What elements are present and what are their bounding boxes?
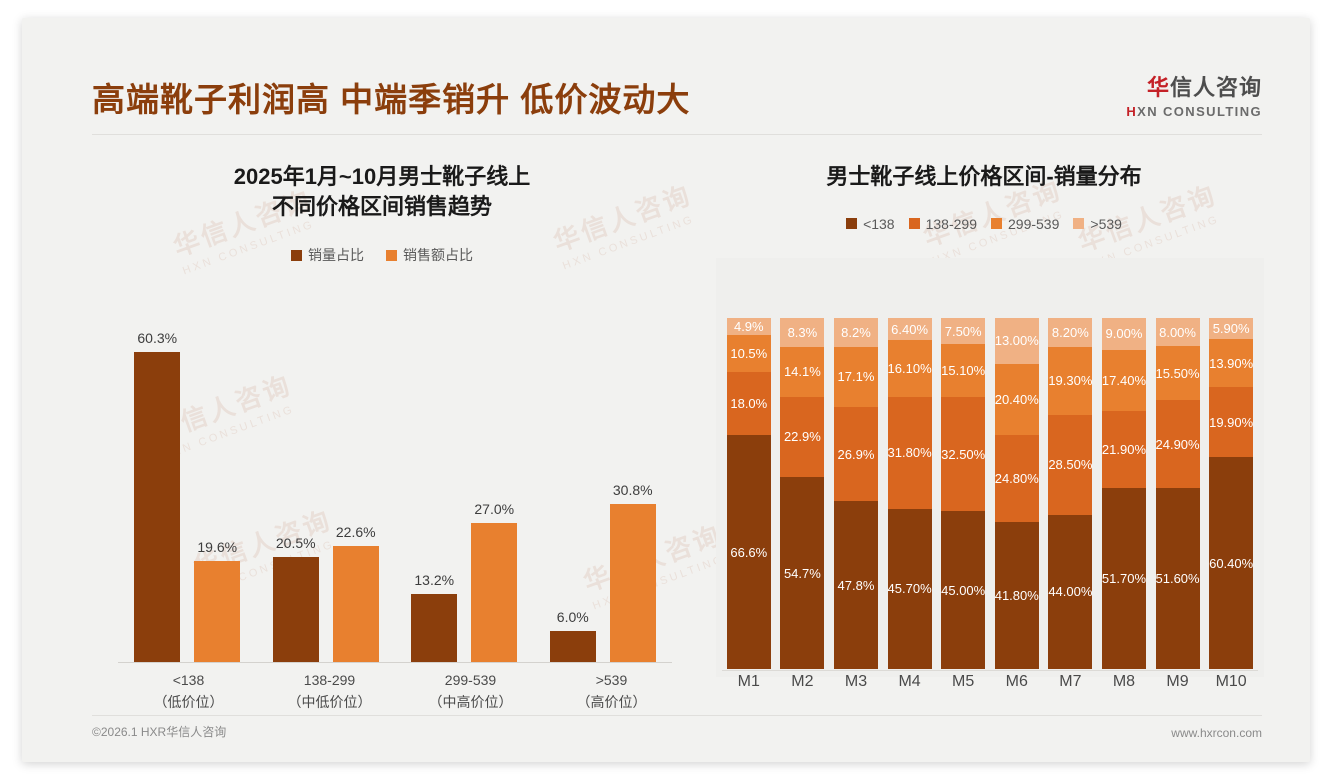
segment-value-label: 44.00% (1048, 584, 1092, 599)
stack-segment[interactable]: 19.90% (1209, 387, 1253, 457)
stack-segment[interactable]: 41.80% (995, 522, 1039, 669)
segment-value-label: 8.3% (788, 325, 818, 340)
right-chart-title: 男士靴子线上价格区间-销量分布 (694, 162, 1274, 192)
bar-value-label: 22.6% (336, 524, 376, 540)
stack-segment[interactable]: 45.00% (941, 511, 985, 669)
logo-cn-accent: 华 (1147, 75, 1170, 100)
logo-en-rest: XN CONSULTING (1137, 104, 1262, 119)
stack-segment[interactable]: 45.70% (888, 509, 932, 669)
bar-group: 60.3%19.6% (118, 323, 257, 662)
bar-value-label: 6.0% (557, 609, 589, 625)
legend-swatch-icon (991, 218, 1002, 229)
segment-value-label: 41.80% (995, 588, 1039, 603)
segment-value-label: 10.5% (730, 346, 767, 361)
stack-segment[interactable]: 60.40% (1209, 457, 1253, 669)
legend-item-sales-amount[interactable]: 销售额占比 (386, 245, 473, 265)
stacked-bar-column[interactable]: 6.40%16.10%31.80%45.70% (883, 318, 937, 669)
x-axis-label: M6 (990, 673, 1044, 703)
segment-value-label: 6.40% (891, 322, 928, 337)
stacked-bar-column[interactable]: 13.00%20.40%24.80%41.80% (990, 318, 1044, 669)
right-chart-panel: 男士靴子线上价格区间-销量分布 <138138-299299-539>539 4… (694, 148, 1274, 713)
stack-segment[interactable]: 8.20% (1048, 318, 1092, 347)
stack-segment[interactable]: 16.10% (888, 340, 932, 397)
bar[interactable] (134, 352, 180, 662)
legend-label: 销量占比 (308, 245, 364, 265)
stack-segment[interactable]: 6.40% (888, 318, 932, 340)
stacked-bar-column[interactable]: 4.9%10.5%18.0%66.6% (722, 318, 776, 669)
segment-value-label: 24.90% (1156, 437, 1200, 452)
x-axis-label: M10 (1204, 673, 1258, 703)
left-chart-title-line2: 不同价格区间销售趋势 (82, 192, 682, 222)
stack-segment[interactable]: 31.80% (888, 397, 932, 509)
stack-segment[interactable]: 20.40% (995, 364, 1039, 436)
bar-value-label: 30.8% (613, 482, 653, 498)
stack-segment[interactable]: 19.30% (1048, 347, 1092, 415)
stack-segment[interactable]: 21.90% (1102, 411, 1146, 488)
bar[interactable] (610, 504, 656, 662)
x-axis-label: 299-539（中高价位） (400, 669, 541, 714)
stacked-bar: 8.3%14.1%22.9%54.7% (780, 318, 824, 669)
legend-swatch-icon (1073, 218, 1084, 229)
right-chart-plot-area: 4.9%10.5%18.0%66.6%8.3%14.1%22.9%54.7%8.… (708, 318, 1264, 703)
legend-swatch-icon (291, 250, 302, 261)
x-axis-month-labels: M1M2M3M4M5M6M7M8M9M10 (722, 673, 1258, 703)
logo-chinese-text: 华信人咨询 (1126, 70, 1262, 102)
segment-value-label: 7.50% (945, 324, 982, 339)
slide-canvas: 华信人咨询HXN CONSULTING 华信人咨询HXN CONSULTING … (22, 18, 1310, 762)
stacked-bar: 8.20%19.30%28.50%44.00% (1048, 318, 1092, 669)
bar[interactable] (550, 631, 596, 662)
legend-label: >539 (1090, 216, 1122, 232)
stacked-bar-column[interactable]: 8.3%14.1%22.9%54.7% (776, 318, 830, 669)
bar-column[interactable]: 13.2% (411, 323, 457, 662)
segment-value-label: 31.80% (888, 445, 932, 460)
segment-value-label: 16.10% (888, 361, 932, 376)
legend-label: 299-539 (1008, 216, 1059, 232)
segment-value-label: 51.70% (1102, 571, 1146, 586)
x-axis-label: M1 (722, 673, 776, 703)
stack-segment[interactable]: 9.00% (1102, 318, 1146, 350)
segment-value-label: 18.0% (730, 396, 767, 411)
segment-value-label: 45.00% (941, 583, 985, 598)
stacked-bar: 7.50%15.10%32.50%45.00% (941, 318, 985, 669)
segment-value-label: 4.9% (734, 319, 764, 334)
logo-cn-rest: 信人咨询 (1170, 75, 1262, 100)
bar-group: 6.0%30.8% (534, 323, 673, 662)
segment-value-label: 13.90% (1209, 356, 1253, 371)
footer-divider (92, 715, 1262, 716)
right-chart-title-line1: 男士靴子线上价格区间-销量分布 (694, 162, 1274, 192)
bar[interactable] (411, 594, 457, 662)
stacked-bar-column[interactable]: 8.20%19.30%28.50%44.00% (1044, 318, 1098, 669)
bar[interactable] (273, 557, 319, 662)
stacked-bar: 9.00%17.40%21.90%51.70% (1102, 318, 1146, 669)
footer-website[interactable]: www.hxrcon.com (1171, 726, 1262, 740)
bar-value-label: 13.2% (414, 572, 454, 588)
stacked-bar: 8.2%17.1%26.9%47.8% (834, 318, 878, 669)
x-axis-label: M8 (1097, 673, 1151, 703)
segment-value-label: 66.6% (730, 545, 767, 560)
legend-swatch-icon (846, 218, 857, 229)
stack-segment[interactable]: 5.90% (1209, 318, 1253, 339)
bar-value-label: 27.0% (474, 501, 514, 517)
segment-value-label: 17.40% (1102, 373, 1146, 388)
legend-label: 138-299 (926, 216, 977, 232)
right-chart-legend: <138138-299299-539>539 (694, 216, 1274, 232)
x-axis-label: 138-299（中低价位） (259, 669, 400, 714)
segment-value-label: 15.10% (941, 363, 985, 378)
stack-segment[interactable]: 14.1% (780, 347, 824, 396)
legend-label: 销售额占比 (403, 245, 473, 265)
stack-segment[interactable]: 18.0% (727, 372, 771, 435)
segment-value-label: 47.8% (838, 578, 875, 593)
x-axis-label: <138（低价位） (118, 669, 259, 714)
legend-item->539[interactable]: >539 (1073, 216, 1122, 232)
x-axis-label: M9 (1151, 673, 1205, 703)
bar-column[interactable]: 60.3% (134, 323, 180, 662)
stack-segment[interactable]: 28.50% (1048, 415, 1092, 515)
stacked-bar: 6.40%16.10%31.80%45.70% (888, 318, 932, 669)
stack-segment[interactable]: 8.3% (780, 318, 824, 347)
x-axis-label: M7 (1044, 673, 1098, 703)
segment-value-label: 5.90% (1213, 321, 1250, 336)
slide-header: 高端靴子利润高 中端季销升 低价波动大 华信人咨询 HXN CONSULTING (22, 18, 1310, 118)
bar-group-container: 60.3%19.6%20.5%22.6%13.2%27.0%6.0%30.8% (118, 323, 672, 662)
legend-swatch-icon (386, 250, 397, 261)
page-title: 高端靴子利润高 中端季销升 低价波动大 (92, 73, 690, 121)
left-chart-legend: 销量占比 销售额占比 (82, 245, 682, 265)
stacked-bar: 4.9%10.5%18.0%66.6% (727, 318, 771, 669)
stacked-bar-column[interactable]: 9.00%17.40%21.90%51.70% (1097, 318, 1151, 669)
left-chart-title: 2025年1月~10月男士靴子线上 不同价格区间销售趋势 (82, 162, 682, 221)
segment-value-label: 8.00% (1159, 325, 1196, 340)
x-axis-label: >539（高价位） (541, 669, 682, 714)
stack-segment[interactable]: 13.90% (1209, 339, 1253, 388)
x-axis-line (118, 662, 672, 663)
segment-value-label: 26.9% (838, 447, 875, 462)
stack-segment[interactable]: 24.90% (1156, 400, 1200, 487)
segment-value-label: 21.90% (1102, 442, 1146, 457)
segment-value-label: 60.40% (1209, 556, 1253, 571)
stack-segment[interactable]: 8.2% (834, 318, 878, 347)
segment-value-label: 22.9% (784, 429, 821, 444)
segment-value-label: 51.60% (1156, 571, 1200, 586)
bar-value-label: 19.6% (197, 539, 237, 555)
bar-column[interactable]: 30.8% (610, 323, 656, 662)
stack-segment[interactable]: 15.10% (941, 344, 985, 397)
legend-item-138-299[interactable]: 138-299 (909, 216, 977, 232)
stacked-bar: 13.00%20.40%24.80%41.80% (995, 318, 1039, 669)
segment-value-label: 45.70% (888, 581, 932, 596)
stack-segment[interactable]: 51.60% (1156, 488, 1200, 669)
stacked-bar-column[interactable]: 8.00%15.50%24.90%51.60% (1151, 318, 1205, 669)
stack-segment[interactable]: 26.9% (834, 407, 878, 501)
bar-column[interactable]: 19.6% (194, 323, 240, 662)
segment-value-label: 13.00% (995, 333, 1039, 348)
bar[interactable] (471, 523, 517, 662)
company-logo: 华信人咨询 HXN CONSULTING (1126, 70, 1262, 119)
stack-segment[interactable]: 44.00% (1048, 515, 1092, 669)
bar-value-label: 20.5% (276, 535, 316, 551)
stack-segment[interactable]: 15.50% (1156, 346, 1200, 400)
header-divider (92, 134, 1262, 135)
bar-column[interactable]: 20.5% (273, 323, 319, 662)
bar-value-label: 60.3% (137, 330, 177, 346)
bar[interactable] (333, 546, 379, 662)
stacked-bar: 5.90%13.90%19.90%60.40% (1209, 318, 1253, 669)
segment-value-label: 20.40% (995, 392, 1039, 407)
stacked-bar-column[interactable]: 5.90%13.90%19.90%60.40% (1204, 318, 1258, 669)
segment-value-label: 14.1% (784, 364, 821, 379)
stack-segment[interactable]: 24.80% (995, 435, 1039, 522)
legend-item-sales-volume[interactable]: 销量占比 (291, 245, 364, 265)
segment-value-label: 28.50% (1048, 457, 1092, 472)
legend-label: <138 (863, 216, 895, 232)
left-chart-panel: 2025年1月~10月男士靴子线上 不同价格区间销售趋势 销量占比 销售额占比 … (82, 148, 682, 713)
segment-value-label: 32.50% (941, 447, 985, 462)
stack-segment[interactable]: 17.40% (1102, 350, 1146, 411)
x-axis-category-labels: <138（低价位）138-299（中低价位）299-539（中高价位）>539（… (118, 669, 682, 714)
segment-value-label: 8.2% (841, 325, 871, 340)
segment-value-label: 8.20% (1052, 325, 1089, 340)
stack-segment[interactable]: 32.50% (941, 397, 985, 511)
stacked-bar-column[interactable]: 7.50%15.10%32.50%45.00% (936, 318, 990, 669)
stack-segment[interactable]: 51.70% (1102, 488, 1146, 669)
left-chart-plot-area: 60.3%19.6%20.5%22.6%13.2%27.0%6.0%30.8% (104, 323, 672, 663)
bar-column[interactable]: 22.6% (333, 323, 379, 662)
stacked-bar-container: 4.9%10.5%18.0%66.6%8.3%14.1%22.9%54.7%8.… (722, 318, 1258, 669)
stacked-bar: 8.00%15.50%24.90%51.60% (1156, 318, 1200, 669)
stack-segment[interactable]: 17.1% (834, 347, 878, 407)
x-axis-line (722, 670, 1258, 671)
stack-segment[interactable]: 22.9% (780, 397, 824, 477)
segment-value-label: 17.1% (838, 369, 875, 384)
left-chart-title-line1: 2025年1月~10月男士靴子线上 (82, 162, 682, 192)
legend-swatch-icon (909, 218, 920, 229)
bar[interactable] (194, 561, 240, 662)
segment-value-label: 15.50% (1156, 366, 1200, 381)
bar-group: 20.5%22.6% (257, 323, 396, 662)
bar-column[interactable]: 27.0% (471, 323, 517, 662)
stack-segment[interactable]: 66.6% (727, 435, 771, 669)
stack-segment[interactable]: 13.00% (995, 318, 1039, 364)
segment-value-label: 19.30% (1048, 373, 1092, 388)
segment-value-label: 54.7% (784, 566, 821, 581)
x-axis-label: M4 (883, 673, 937, 703)
stacked-bar-column[interactable]: 8.2%17.1%26.9%47.8% (829, 318, 883, 669)
segment-value-label: 9.00% (1106, 326, 1143, 341)
segment-value-label: 19.90% (1209, 415, 1253, 430)
logo-en-accent: H (1126, 104, 1137, 119)
x-axis-label: M3 (829, 673, 883, 703)
bar-column[interactable]: 6.0% (550, 323, 596, 662)
bar-group: 13.2%27.0% (395, 323, 534, 662)
stack-segment[interactable]: 4.9% (727, 318, 771, 335)
segment-value-label: 24.80% (995, 471, 1039, 486)
x-axis-label: M5 (936, 673, 990, 703)
footer-copyright: ©2026.1 HXR华信人咨询 (92, 723, 226, 740)
legend-item-299-539[interactable]: 299-539 (991, 216, 1059, 232)
logo-english-text: HXN CONSULTING (1126, 104, 1262, 119)
stack-segment[interactable]: 10.5% (727, 335, 771, 372)
stack-segment[interactable]: 7.50% (941, 318, 985, 344)
stack-segment[interactable]: 47.8% (834, 501, 878, 669)
stack-segment[interactable]: 8.00% (1156, 318, 1200, 346)
legend-item-<138[interactable]: <138 (846, 216, 895, 232)
x-axis-label: M2 (776, 673, 830, 703)
stack-segment[interactable]: 54.7% (780, 477, 824, 669)
